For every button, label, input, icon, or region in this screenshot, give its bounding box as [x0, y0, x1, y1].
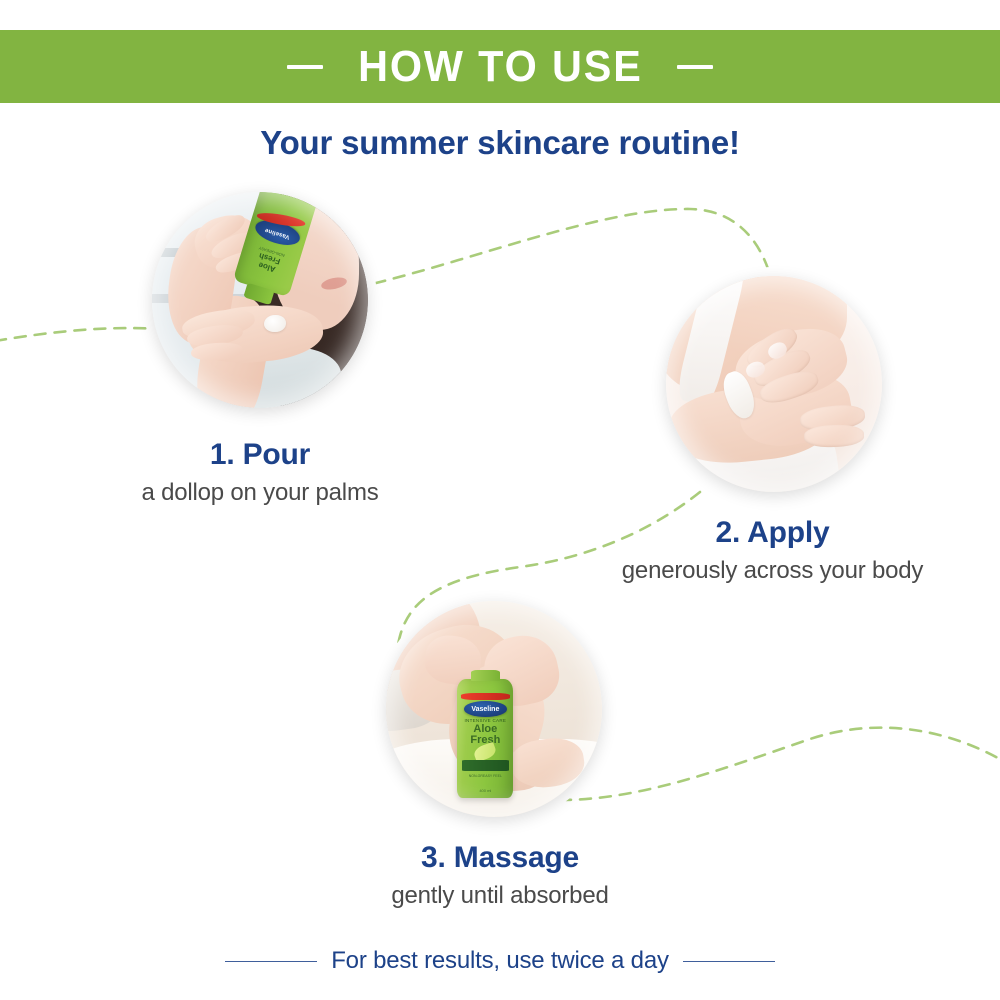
lotion-bottle: Vaseline INTENSIVE CARE Aloe Fresh NON-G…: [457, 679, 513, 798]
step-2-caption: 2. Apply generously across your body: [545, 515, 1000, 586]
bottle-product-name: Aloe Fresh: [461, 724, 510, 746]
step-1-photo: Aloe Fresh NON-GREASY Vaseline: [152, 192, 368, 408]
step-3-desc: gently until absorbed: [285, 880, 715, 911]
bottle-size: 400 ml: [462, 788, 509, 793]
step-1-caption: 1. Pour a dollop on your palms: [60, 437, 460, 508]
path-seg-exit: [560, 728, 1000, 800]
dash-right-icon: [677, 65, 713, 69]
step-3-photo: Vaseline INTENSIVE CARE Aloe Fresh NON-G…: [386, 601, 602, 817]
footer: For best results, use twice a day: [0, 947, 1000, 975]
footer-rule-right: [683, 961, 775, 962]
path-seg-enter: [0, 328, 170, 341]
header-band: HOW TO USE: [0, 30, 1000, 103]
brand-logo: Vaseline: [464, 701, 507, 716]
step-3-title: 3. Massage: [285, 840, 715, 876]
step-2-desc: generously across your body: [545, 555, 1000, 586]
step-1-desc: a dollop on your palms: [60, 477, 460, 508]
page-title: HOW TO USE: [358, 45, 643, 89]
dash-left-icon: [287, 65, 323, 69]
step-1-title: 1. Pour: [60, 437, 460, 473]
bottle-subtext: NON-GREASY FEEL: [462, 774, 509, 778]
step-2-photo: [666, 276, 882, 492]
step-2-title: 2. Apply: [545, 515, 1000, 551]
subtitle: Your summer skincare routine!: [0, 124, 1000, 162]
footer-rule-left: [225, 961, 317, 962]
footer-text: For best results, use twice a day: [331, 947, 669, 975]
poster: HOW TO USE Your summer skincare routine!: [0, 0, 1000, 1000]
step-3-caption: 3. Massage gently until absorbed: [285, 840, 715, 911]
